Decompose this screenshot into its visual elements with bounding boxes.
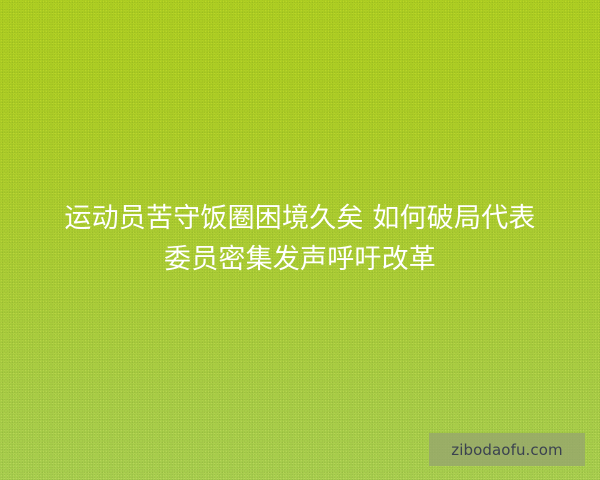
watermark-label: zibodaofu.com xyxy=(451,441,563,459)
headline-text: 运动员苦守饭圈困境久矣 如何破局代表 委员密集发声呼吁改革 xyxy=(0,198,600,280)
image-banner: 运动员苦守饭圈困境久矣 如何破局代表 委员密集发声呼吁改革 zibodaofu.… xyxy=(0,0,600,480)
watermark-badge: zibodaofu.com xyxy=(429,433,585,466)
